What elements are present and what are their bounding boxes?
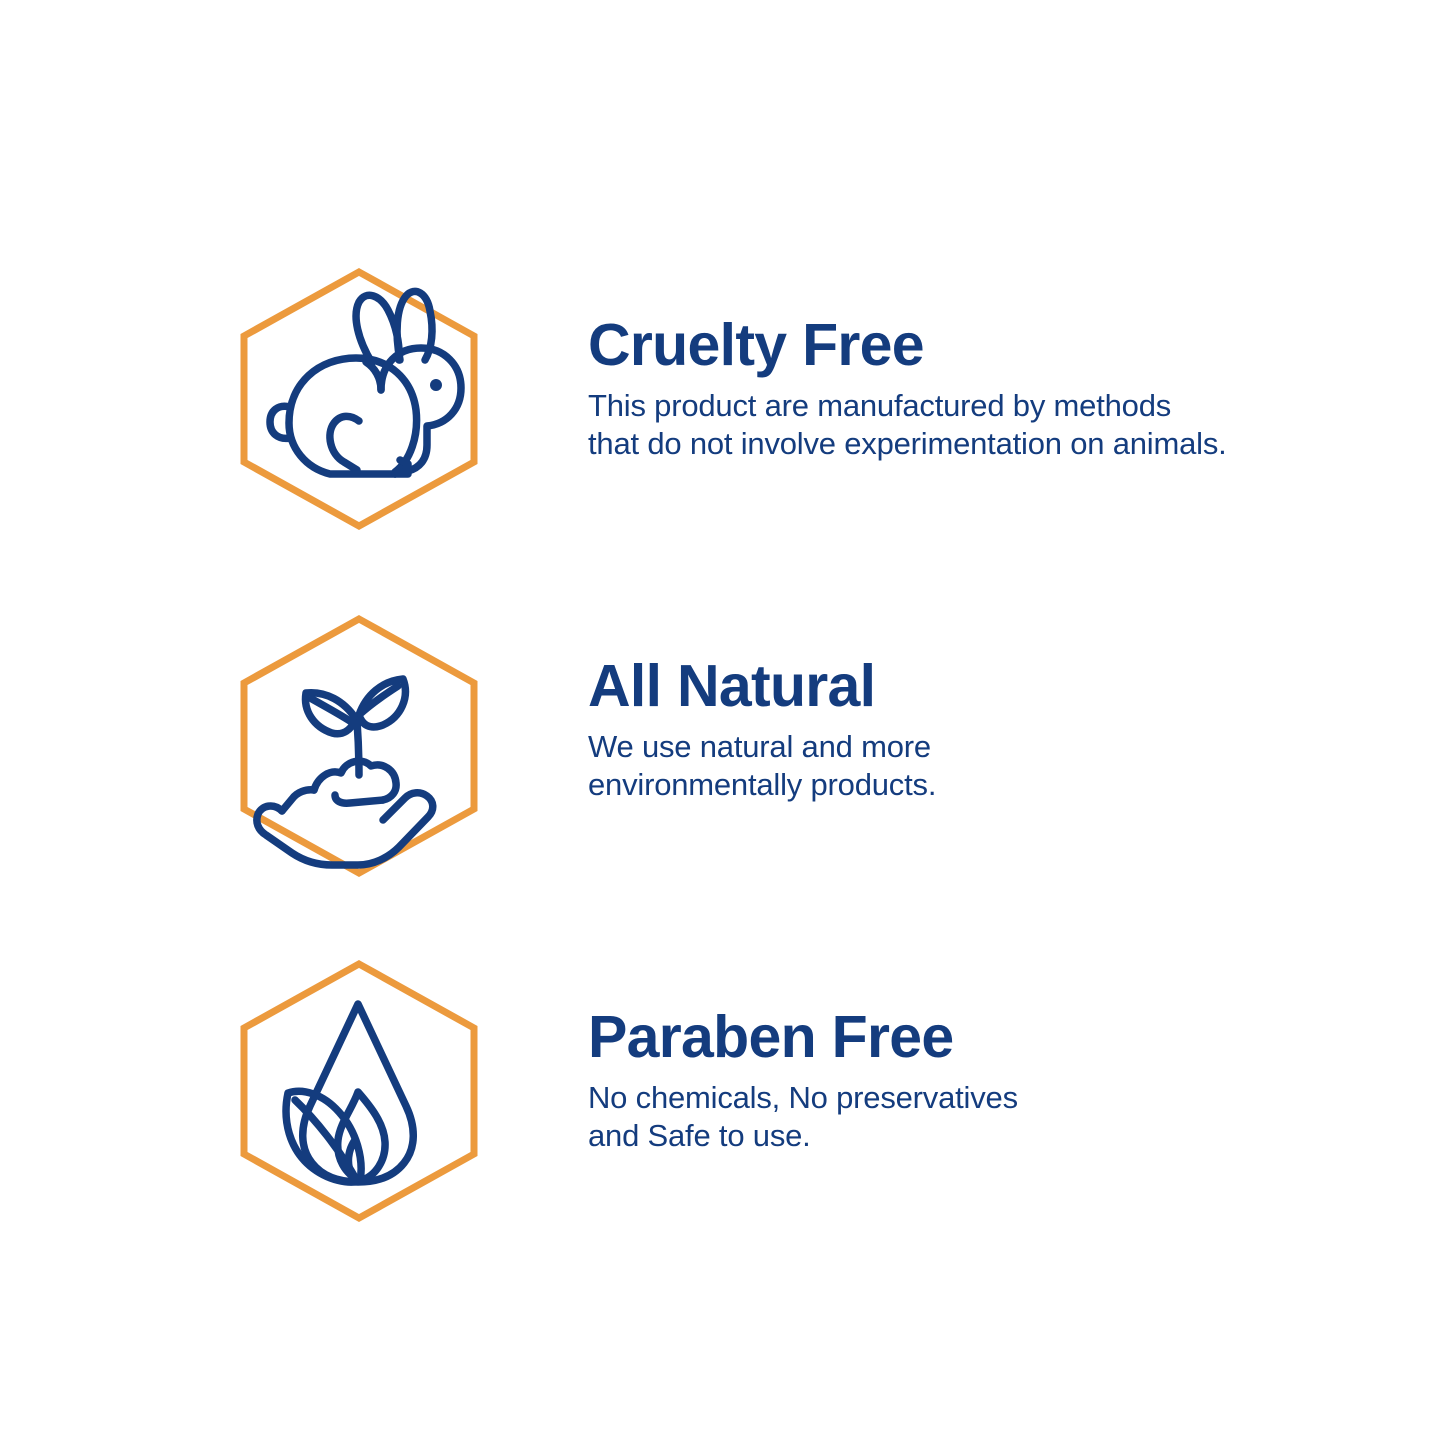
product-badge-list: Cruelty Free This product are manufactur… xyxy=(0,0,1445,1445)
badge-description-line: that do not involve experimentation on a… xyxy=(588,425,1445,463)
badge-description-line: We use natural and more xyxy=(588,728,1445,766)
badge-item-cruelty-free: Cruelty Free This product are manufactur… xyxy=(0,268,1445,530)
badge-item-paraben-free: Paraben Free No chemicals, No preservati… xyxy=(0,960,1445,1222)
hexagon-badge-frame-3 xyxy=(240,960,478,1222)
badge-description-paraben-free: No chemicals, No preservatives and Safe … xyxy=(588,1079,1445,1155)
badge-description-line: No chemicals, No preservatives xyxy=(588,1079,1445,1117)
badge-title-all-natural: All Natural xyxy=(588,657,1445,716)
badge-description-line: environmentally products. xyxy=(588,766,1445,804)
badge-title-cruelty-free: Cruelty Free xyxy=(588,316,1445,375)
badge-description-line: and Safe to use. xyxy=(588,1117,1445,1155)
badge-item-all-natural: All Natural We use natural and more envi… xyxy=(0,615,1445,877)
hexagon-badge-frame-1 xyxy=(240,268,478,530)
badge-description-all-natural: We use natural and more environmentally … xyxy=(588,728,1445,804)
rabbit-icon xyxy=(270,291,461,474)
badge-text-block-3: Paraben Free No chemicals, No preservati… xyxy=(588,960,1445,1155)
badge-title-paraben-free: Paraben Free xyxy=(588,1008,1445,1067)
badge-description-line: This product are manufactured by methods xyxy=(588,387,1445,425)
hexagon-badge-frame-2 xyxy=(240,615,478,877)
hand-holding-seedling-icon xyxy=(257,679,433,865)
badge-text-block-1: Cruelty Free This product are manufactur… xyxy=(588,268,1445,463)
badge-text-block-2: All Natural We use natural and more envi… xyxy=(588,615,1445,804)
badge-description-cruelty-free: This product are manufactured by methods… xyxy=(588,387,1445,463)
water-drop-leaf-icon xyxy=(286,1004,413,1182)
